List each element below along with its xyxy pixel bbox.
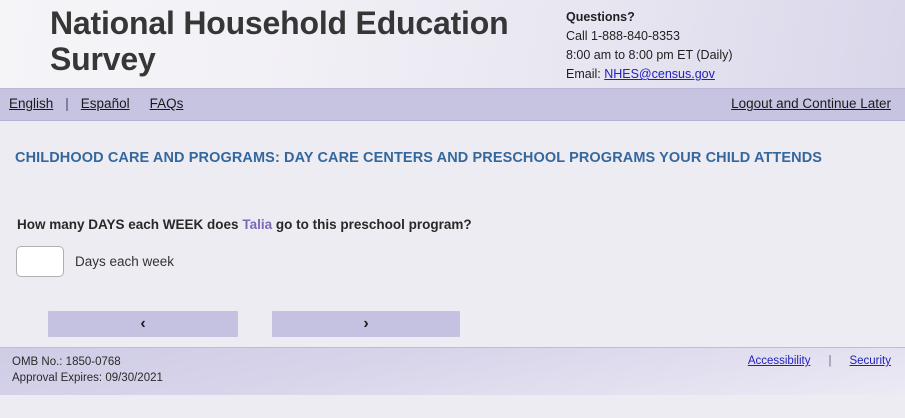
nav-link-espanol[interactable]: Español — [81, 96, 130, 111]
footer-links: Accessibility | Security — [748, 355, 891, 367]
logout-and-continue-later-link[interactable]: Logout and Continue Later — [731, 96, 891, 111]
nav-link-english[interactable]: English — [9, 96, 53, 111]
form-navigation-buttons: ‹ › — [48, 311, 460, 337]
chevron-right-icon: › — [363, 316, 368, 332]
navbar-right-links: Logout and Continue Later — [731, 96, 891, 111]
contact-phone: Call 1-888-840-8353 — [566, 27, 733, 46]
contact-hours: 8:00 am to 8:00 pm ET (Daily) — [566, 46, 733, 65]
nav-separator: | — [65, 96, 69, 111]
next-button[interactable]: › — [272, 311, 460, 337]
omb-number: OMB No.: 1850-0768 — [12, 354, 163, 370]
contact-block: Questions? Call 1-888-840-8353 8:00 am t… — [566, 8, 733, 84]
question-prefix: How many DAYS each WEEK does — [17, 217, 242, 232]
contact-email-link[interactable]: NHES@census.gov — [604, 67, 715, 81]
utility-navbar: English | Español FAQs Logout and Contin… — [0, 88, 905, 121]
navbar-left-links: English | Español FAQs — [9, 96, 183, 111]
answer-row: Days each week — [16, 246, 174, 277]
question-suffix: go to this preschool program? — [272, 217, 472, 232]
page-title: CHILDHOOD CARE AND PROGRAMS: DAY CARE CE… — [15, 147, 880, 169]
chevron-left-icon: ‹ — [140, 316, 145, 332]
child-name: Talia — [242, 217, 272, 232]
question-text: How many DAYS each WEEK does Talia go to… — [17, 217, 472, 232]
site-title: National Household Education Survey — [50, 6, 520, 78]
contact-email-prefix: Email: — [566, 67, 604, 81]
page-footer: OMB No.: 1850-0768 Approval Expires: 09/… — [0, 347, 905, 395]
page-header: National Household Education Survey Ques… — [0, 0, 905, 88]
main-content: CHILDHOOD CARE AND PROGRAMS: DAY CARE CE… — [0, 121, 905, 347]
accessibility-link[interactable]: Accessibility — [748, 355, 811, 367]
days-each-week-input[interactable] — [16, 246, 64, 277]
approval-expires: Approval Expires: 09/30/2021 — [12, 370, 163, 386]
questions-label: Questions? — [566, 8, 733, 27]
nav-link-faqs[interactable]: FAQs — [150, 96, 184, 111]
security-link[interactable]: Security — [849, 355, 891, 367]
contact-email-row: Email: NHES@census.gov — [566, 65, 733, 84]
footer-omb-block: OMB No.: 1850-0768 Approval Expires: 09/… — [12, 354, 163, 387]
back-button[interactable]: ‹ — [48, 311, 238, 337]
days-each-week-label: Days each week — [75, 254, 174, 269]
footer-separator: | — [828, 355, 831, 367]
